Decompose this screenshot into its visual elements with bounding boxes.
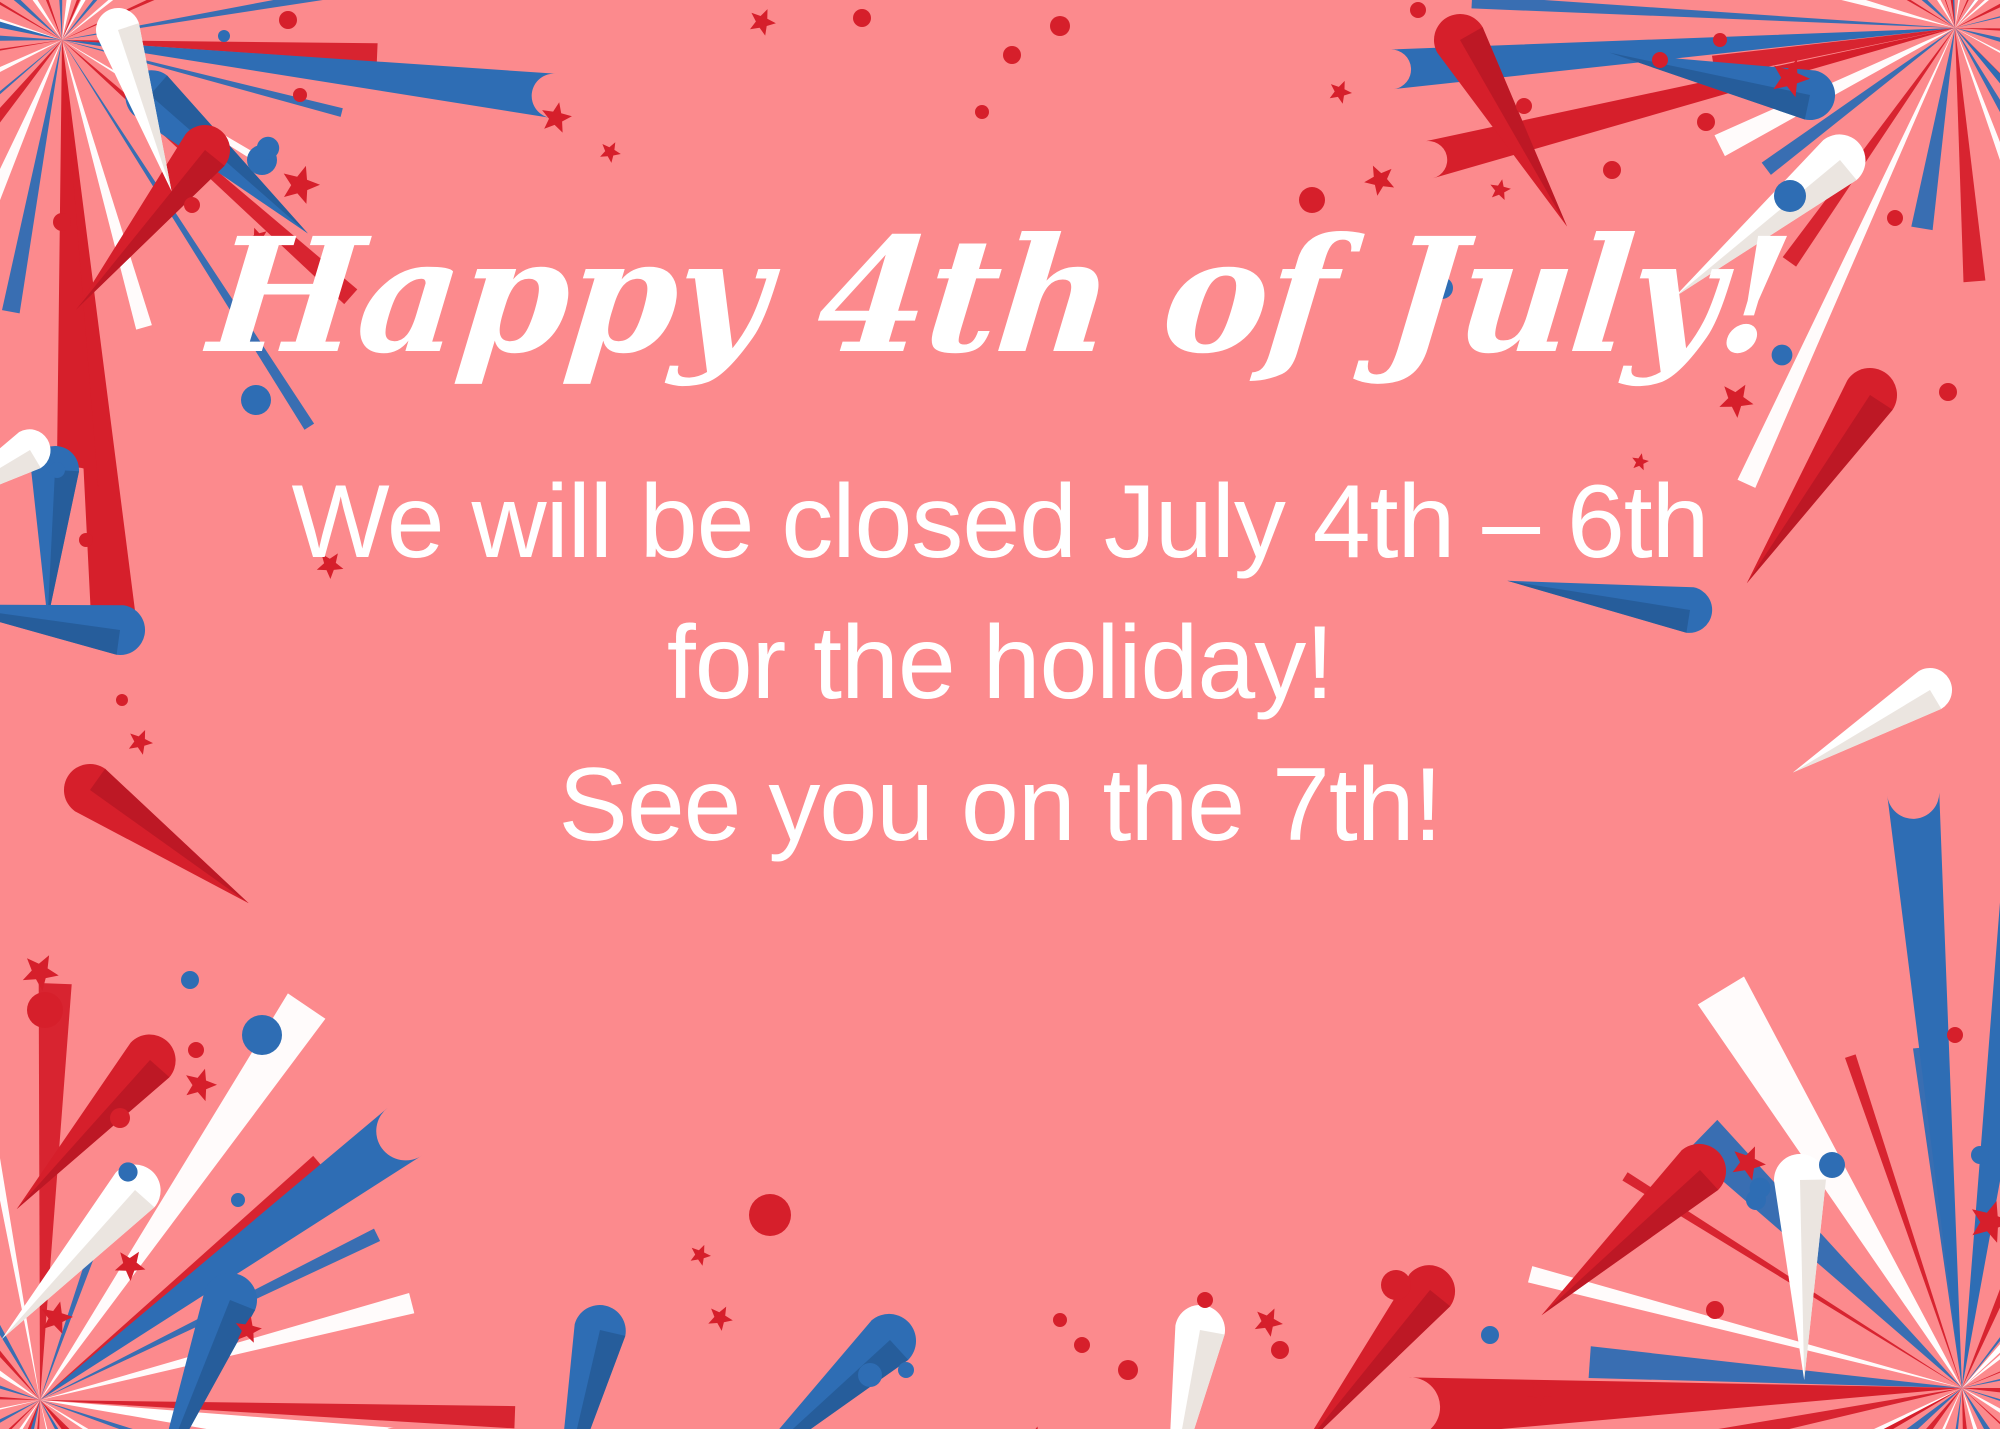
- holiday-closure-poster: Happy 4th of July! We will be closed Jul…: [0, 0, 2000, 1429]
- fireworks-decoration-layer: [0, 0, 2000, 1429]
